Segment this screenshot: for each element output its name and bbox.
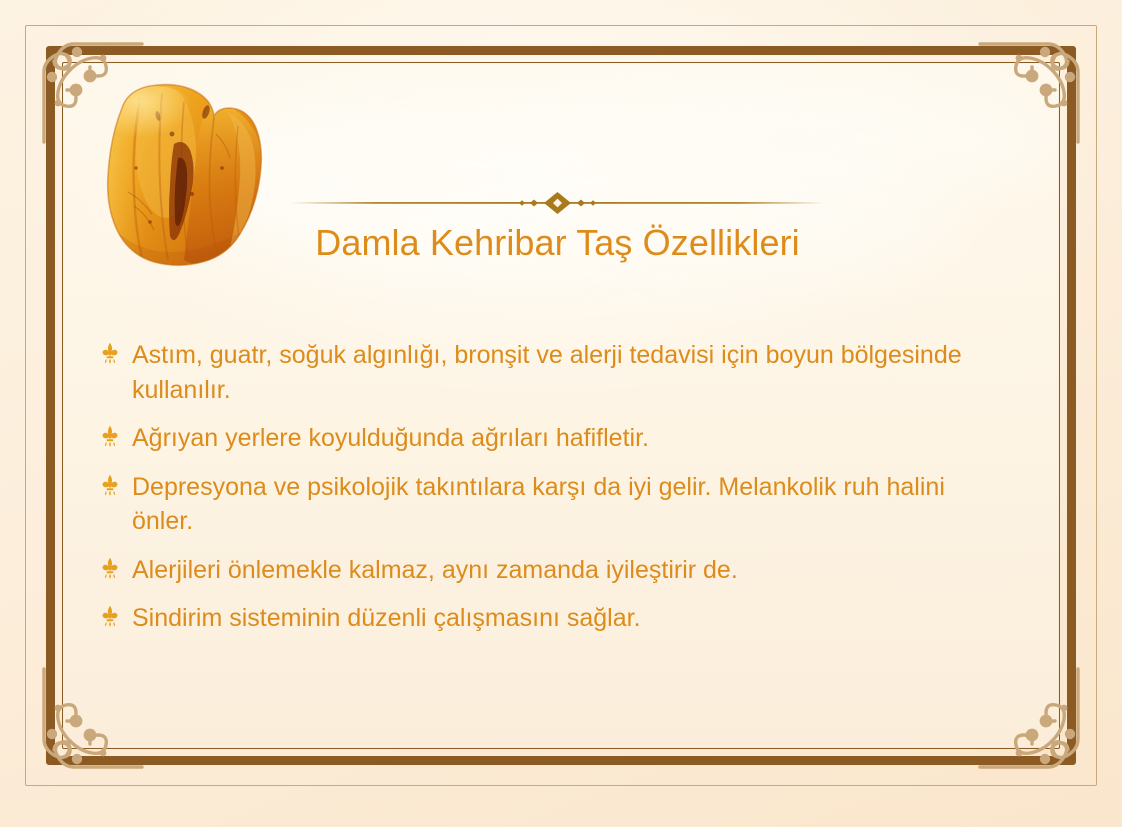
list-item: Ağrıyan yerlere koyulduğunda ağrıları ha…: [100, 421, 1010, 456]
list-item-text: Alerjileri önlemekle kalmaz, aynı zamand…: [126, 553, 1010, 588]
fleur-de-lis-bullet-icon: [100, 557, 126, 579]
list-item-text: Ağrıyan yerlere koyulduğunda ağrıları ha…: [126, 421, 1010, 456]
fleur-de-lis-bullet-icon: [100, 342, 126, 364]
list-item-text: Astım, guatr, soğuk algınlığı, bronşit v…: [126, 338, 1010, 407]
amber-stone-image: [88, 72, 270, 272]
list-item: Depresyona ve psikolojik takıntılara kar…: [100, 470, 1010, 539]
info-card-poster: Damla Kehribar Taş Özellikleri Astım, gu…: [0, 0, 1122, 827]
list-item-text: Depresyona ve psikolojik takıntılara kar…: [126, 470, 1010, 539]
list-item: Alerjileri önlemekle kalmaz, aynı zamand…: [100, 553, 1010, 588]
fleur-de-lis-bullet-icon: [100, 474, 126, 496]
page-title: Damla Kehribar Taş Özellikleri: [290, 222, 825, 264]
properties-list: Astım, guatr, soğuk algınlığı, bronşit v…: [100, 338, 1010, 636]
diamond-divider-ornament: [290, 190, 825, 216]
list-item: Sindirim sisteminin düzenli çalışmasını …: [100, 601, 1010, 636]
fleur-de-lis-bullet-icon: [100, 605, 126, 627]
fleur-de-lis-bullet-icon: [100, 425, 126, 447]
list-item: Astım, guatr, soğuk algınlığı, bronşit v…: [100, 338, 1010, 407]
header-block: Damla Kehribar Taş Özellikleri: [290, 190, 825, 264]
list-item-text: Sindirim sisteminin düzenli çalışmasını …: [126, 601, 1010, 636]
